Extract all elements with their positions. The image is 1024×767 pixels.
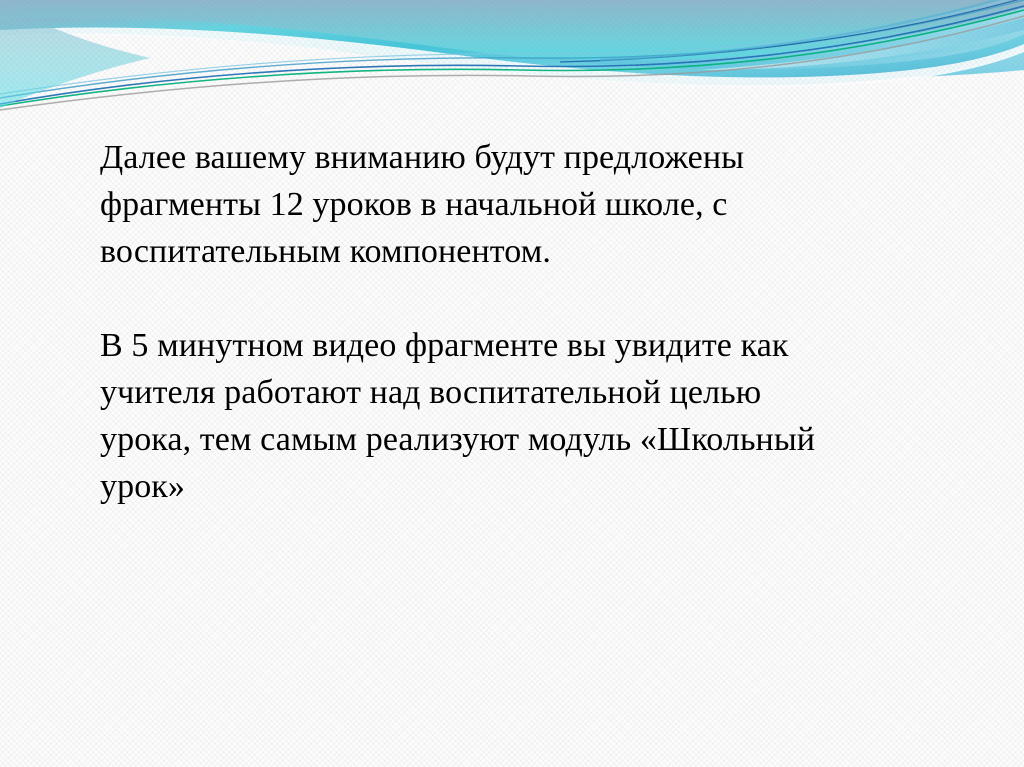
paragraph-2: В 5 минутном видео фрагменте вы увидите … xyxy=(100,322,960,510)
slide-body-text: Далее вашему вниманию будут предложены ф… xyxy=(100,134,960,510)
slide-canvas: Далее вашему вниманию будут предложены ф… xyxy=(0,0,1024,767)
wave-ribbon-banner xyxy=(0,0,1024,112)
paragraph-1: Далее вашему вниманию будут предложены ф… xyxy=(100,134,960,275)
